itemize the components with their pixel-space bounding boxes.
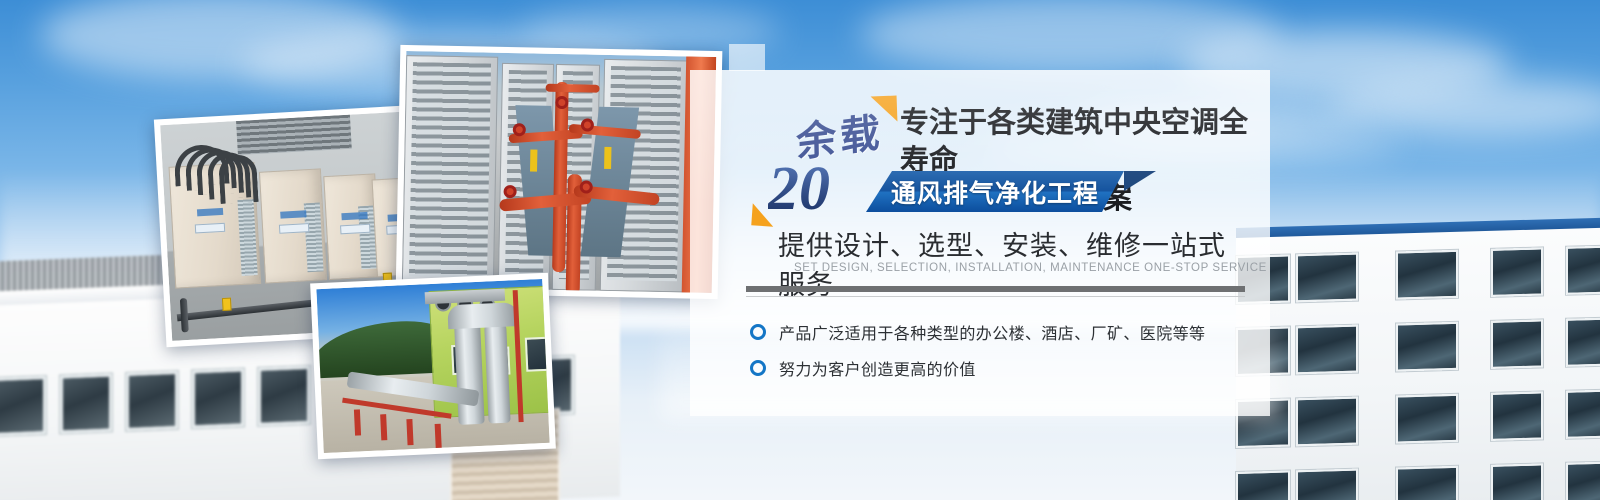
brand-badge <box>197 208 223 216</box>
insulated-duct-riser <box>484 325 510 424</box>
brand-badge <box>280 210 306 218</box>
years-number: 20 <box>768 158 830 220</box>
building-window <box>1491 391 1543 440</box>
service-tag-label: 通风排气净化工程 <box>866 171 1124 212</box>
arrow-top-right-icon <box>871 96 898 123</box>
yellow-marker <box>530 149 537 171</box>
bullet-item: 努力为客户创造更高的价值 <box>750 350 1250 386</box>
office-building-right <box>1236 228 1600 500</box>
building-window <box>60 373 112 433</box>
headline-line-1: 专注于各类建筑中央空调全寿命 <box>900 104 1270 180</box>
building-window <box>1396 250 1458 300</box>
pipe-marker-tag <box>222 298 232 311</box>
building-window <box>126 371 178 431</box>
yellow-marker <box>604 147 611 169</box>
building-window <box>1396 322 1458 372</box>
building-window <box>1296 325 1358 375</box>
bullet-ring-icon <box>750 324 766 340</box>
duct-support-post <box>406 419 413 445</box>
insulated-duct-elbow <box>447 302 518 329</box>
unit-louver <box>237 199 257 276</box>
chilled-water-header <box>546 84 600 93</box>
photo-chiller-red-piping <box>396 45 723 299</box>
cloud <box>1330 78 1600 136</box>
unit-label-plate <box>340 224 370 235</box>
building-window <box>1491 319 1543 368</box>
building-window <box>192 368 244 428</box>
wall-shutter <box>236 115 352 155</box>
bullet-ring-icon <box>750 360 766 376</box>
building-window <box>1566 318 1600 367</box>
unit-louver <box>304 202 324 272</box>
ac-outdoor-unit <box>259 168 327 283</box>
building-window <box>1396 394 1458 444</box>
arrow-bottom-left-icon <box>751 203 774 226</box>
building-window <box>1296 397 1358 447</box>
refrigerant-hose <box>218 154 259 204</box>
photo-rooftop-insulated-duct <box>310 273 556 460</box>
hero-banner: 余载 20 专注于各类建筑中央空调全寿命 周期整体解决方案 通风排气净化工程 提… <box>0 0 1600 500</box>
bullet-item: 产品广泛适用于各种类型的办公楼、酒店、厂矿、医院等等 <box>750 314 1250 350</box>
duct-support-post <box>380 414 387 440</box>
building-window <box>1236 470 1290 500</box>
window-grid <box>1236 227 1600 500</box>
building-window <box>1296 469 1358 500</box>
bullet-list: 产品广泛适用于各种类型的办公楼、酒店、厂矿、医院等等努力为客户创造更高的价值 <box>750 314 1250 386</box>
building-window <box>1491 247 1543 296</box>
duct-support-post <box>435 424 442 450</box>
building-window <box>1566 462 1600 500</box>
building-window <box>1396 466 1458 500</box>
building-window <box>258 366 310 426</box>
building-window <box>1566 390 1600 439</box>
building-window <box>525 337 550 372</box>
building-window <box>1296 253 1358 303</box>
brand-badge <box>341 212 367 220</box>
unit-label-plate <box>278 223 308 234</box>
building-window <box>1566 246 1600 295</box>
bullet-text: 努力为客户创造更高的价值 <box>779 356 976 380</box>
unit-label-plate <box>195 222 225 233</box>
building-window <box>0 376 46 436</box>
duct-support-post <box>354 409 361 435</box>
services-line-en: SET DESIGN, SELECTION, INSTALLATION, MAI… <box>794 262 1234 274</box>
building-window <box>1491 463 1543 500</box>
bullet-text: 产品广泛适用于各种类型的办公楼、酒店、厂矿、医院等等 <box>779 320 1205 344</box>
divider-hairline <box>746 296 1245 297</box>
chiller-unit-left <box>402 55 498 289</box>
divider-bar <box>746 286 1245 292</box>
accent-square <box>729 44 765 71</box>
